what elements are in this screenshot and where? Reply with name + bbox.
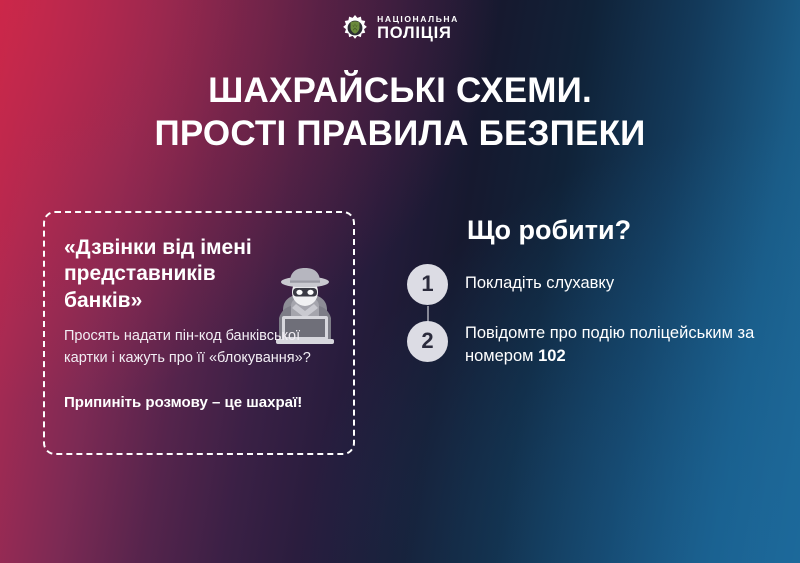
actions-heading: Що робити? [467, 216, 777, 246]
title-line-1: ШАХРАЙСЬКІ СХЕМИ. [0, 70, 800, 113]
logo-line-police: ПОЛІЦІЯ [377, 25, 459, 42]
emergency-number: 102 [538, 347, 566, 365]
title-line-2: ПРОСТІ ПРАВИЛА БЕЗПЕКИ [0, 113, 800, 156]
step-text-2-main: Повідомте про подію поліцейським за номе… [465, 324, 754, 365]
actions-steps-list: 1 Покладіть слухавку 2 Повідомте про под… [407, 264, 777, 368]
actions-panel: Що робити? 1 Покладіть слухавку 2 Повідо… [407, 216, 777, 384]
infographic-poster: НАЦІОНАЛЬНА ПОЛІЦІЯ ШАХРАЙСЬКІ СХЕМИ. ПР… [0, 0, 800, 563]
logo-line-national: НАЦІОНАЛЬНА [377, 15, 459, 24]
step-text-1: Покладіть слухавку [465, 264, 614, 295]
scheme-card-tagline: Припиніть розмову – це шахраї! [64, 394, 339, 411]
step-text-2: Повідомте про подію поліцейським за номе… [465, 321, 770, 368]
scheme-card-heading: «Дзвінки від імені представників банків» [64, 235, 279, 314]
police-logo-text: НАЦІОНАЛЬНА ПОЛІЦІЯ [377, 15, 459, 42]
page-title: ШАХРАЙСЬКІ СХЕМИ. ПРОСТІ ПРАВИЛА БЕЗПЕКИ [0, 70, 800, 155]
police-logo: НАЦІОНАЛЬНА ПОЛІЦІЯ [0, 14, 800, 42]
step-number-badge-2: 2 [407, 321, 448, 362]
action-step-1: 1 Покладіть слухавку [407, 264, 777, 305]
scheme-card-body: Просять надати пін-код банківської картк… [64, 326, 336, 370]
police-badge-icon [341, 14, 369, 42]
action-step-2: 2 Повідомте про подію поліцейським за но… [407, 321, 777, 368]
step-number-badge-1: 1 [407, 264, 448, 305]
scheme-card: «Дзвінки від імені представників банків»… [43, 211, 355, 455]
